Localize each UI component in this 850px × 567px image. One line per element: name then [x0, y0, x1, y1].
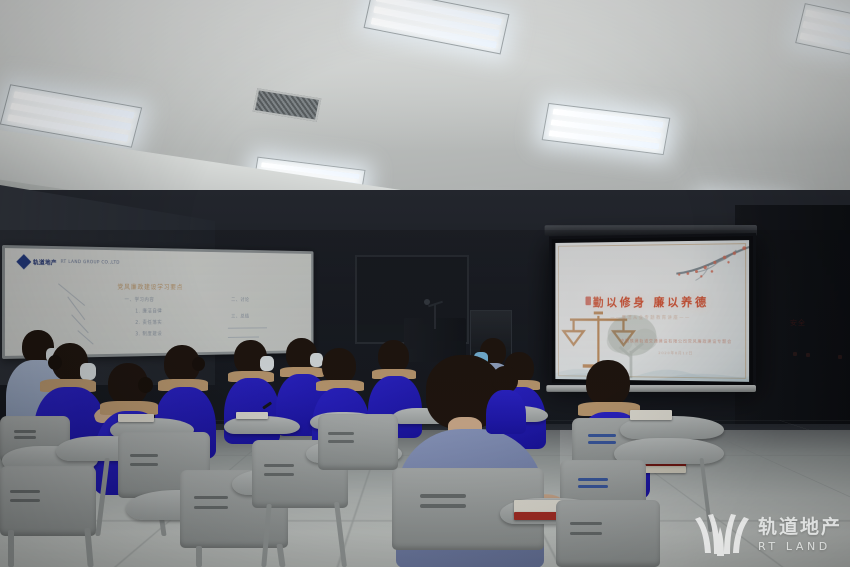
watermark-english: RT LAND: [758, 541, 842, 552]
whiteboard-note: 三、总结: [231, 313, 249, 320]
face-mask: [80, 363, 96, 380]
whiteboard-logo: 轨道地产 RT LAND GROUP CO.,LTD: [19, 256, 120, 268]
notebook: [630, 410, 672, 420]
notebook: [236, 412, 268, 419]
torso: [224, 378, 280, 444]
slide-title: 勤以修身 廉以养德: [555, 294, 749, 310]
slide-organization: 中国铁建轨道交通建设有限公司党风廉政建设专题会: [612, 339, 741, 346]
face-mask: [260, 356, 274, 371]
hair-bun: [138, 377, 153, 393]
plum-blossom-branch-icon: [652, 242, 749, 290]
whiteboard-note: 二、讨论: [231, 296, 249, 302]
watermark-chinese: 轨道地产: [758, 518, 842, 537]
whiteboard-logo-subtext: RT LAND GROUP CO.,LTD: [61, 260, 120, 266]
whiteboard-note: 3. 制度建设: [135, 330, 162, 337]
hair-bun: [48, 355, 62, 370]
whiteboard-note: 2. 责任落实: [135, 319, 162, 326]
head: [586, 360, 630, 406]
head: [492, 366, 518, 393]
hair-bun: [192, 357, 205, 371]
ink-wave-decoration: [555, 354, 749, 382]
torso: [486, 390, 526, 434]
screen-bottom-bar: [546, 385, 756, 392]
microphone-stand: [434, 305, 436, 329]
wall-red-text: 安全: [790, 318, 806, 328]
diamond-logo-icon: [16, 254, 31, 269]
whiteboard-note: 一、学习内容: [125, 296, 155, 303]
watermark: 轨道地产 RT LAND: [691, 513, 842, 557]
whiteboard-note: 1. 廉洁自律: [135, 308, 162, 315]
photo-scene: 安全 轨道地产 RT LAND GROUP CO.,LTD 党风廉政建设学习要点…: [0, 0, 850, 567]
slide-date: 2020年8月12日: [612, 350, 741, 357]
notebook: [118, 414, 154, 422]
head: [322, 348, 356, 384]
projection-screen: 勤以修身 廉以养德 ——廉洁从业专题教育讲座—— 中国铁建轨道交通建设有限公司党…: [549, 233, 756, 389]
projected-slide: 勤以修身 廉以养德 ——廉洁从业专题教育讲座—— 中国铁建轨道交通建设有限公司党…: [555, 240, 749, 382]
slide-subtitle: ——廉洁从业专题教育讲座——: [555, 315, 749, 321]
chair-leg: [8, 530, 14, 567]
chair-leg: [196, 546, 202, 567]
rt-land-logo-icon: [691, 513, 749, 557]
microphone-icon: [424, 299, 430, 305]
whiteboard-logo-text: 轨道地产: [33, 257, 57, 266]
whiteboard-heading: 党风廉政建设学习要点: [117, 281, 183, 291]
